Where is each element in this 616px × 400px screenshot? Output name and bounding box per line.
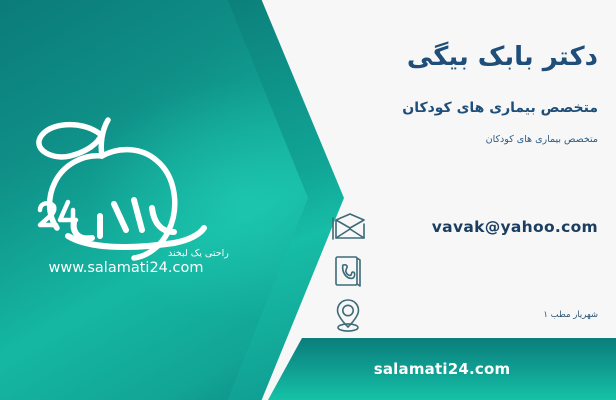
specialty-primary: متخصص بیماری های کودکان	[402, 100, 598, 116]
contact-row-phone[interactable]	[328, 249, 604, 293]
envelope-icon	[328, 207, 368, 247]
doctor-name: دکتر بابک بیگی	[407, 42, 598, 72]
specialty-secondary: متخصص بیماری های کودکان	[486, 134, 598, 145]
contact-row-email[interactable]: vavak@yahoo.com	[328, 205, 604, 249]
card-details: دکتر بابک بیگی متخصص بیماری های کودکان م…	[318, 0, 616, 400]
contact-row-address[interactable]: شهریار مطب ۱	[328, 293, 604, 337]
logo-tagline: به راحتی یک لبخند	[168, 248, 230, 259]
business-card: به راحتی یک لبخند www.salamati24.com دکت…	[0, 0, 616, 400]
location-pin-icon	[328, 295, 368, 335]
phonebook-icon	[328, 251, 368, 291]
address-value: شهریار مطب ۱	[368, 310, 604, 320]
contact-list: vavak@yahoo.com	[328, 205, 604, 337]
brand-logo: به راحتی یک لبخند www.salamati24.com	[22, 104, 230, 274]
email-value: vavak@yahoo.com	[368, 218, 604, 236]
logo-website: www.salamati24.com	[49, 260, 204, 274]
